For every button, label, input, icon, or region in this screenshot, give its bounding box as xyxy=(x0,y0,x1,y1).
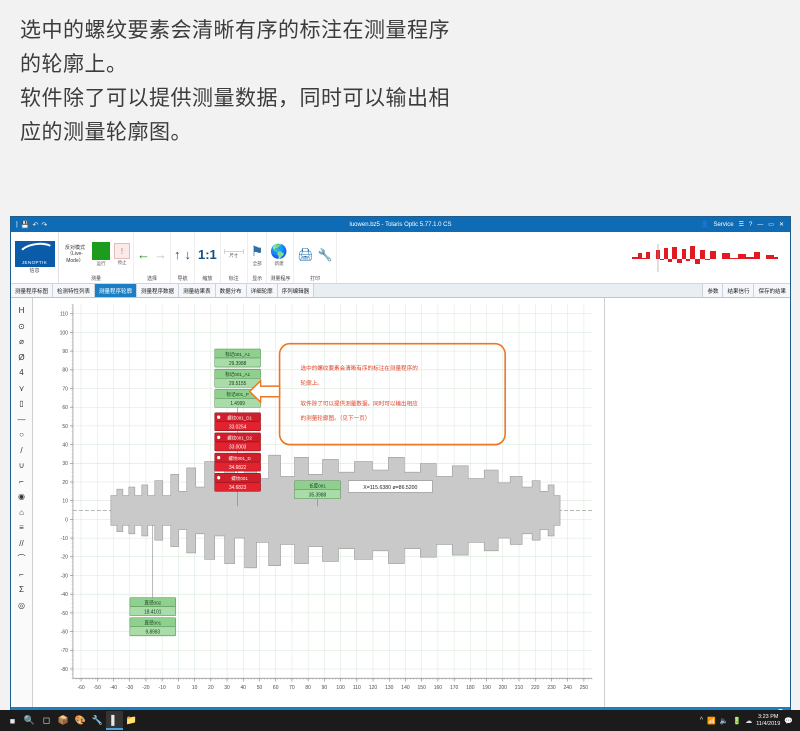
tab-program-chart[interactable]: 测量程序标图 xyxy=(11,284,53,297)
arrow-right-icon[interactable]: → xyxy=(154,248,167,261)
windows-taskbar: ■ 🔍 ◻ 📦 🎨 🔧 ▌ 📁 ^ 📶 🔈 🔋 ☁ 3:23 PM 11/4/2… xyxy=(0,710,800,731)
svg-text:-50: -50 xyxy=(61,611,68,617)
svg-text:1.4999: 1.4999 xyxy=(230,401,245,407)
svg-text:选中的螺纹要素会清晰有序的标注在测量程序的: 选中的螺纹要素会清晰有序的标注在测量程序的 xyxy=(301,364,418,372)
tab-result-bank[interactable]: 结果信行 xyxy=(722,284,753,297)
group-label-select: 选择 xyxy=(137,275,167,283)
ribbon-options-icon[interactable]: ☰ xyxy=(739,221,744,228)
label-red-0[interactable]: 螺纹001_D1 33.0254 xyxy=(215,413,261,431)
battery-icon[interactable]: 🔋 xyxy=(733,717,742,725)
tab-parameters[interactable]: 参数 xyxy=(702,284,722,297)
ribbon-group-navigate: ↑ ↓ 导航 xyxy=(171,232,195,283)
volume-icon[interactable]: 🔈 xyxy=(720,717,729,725)
label-green-0[interactable]: 标记001_A1 29.3988 xyxy=(215,349,261,367)
caption-line-1: 选中的螺纹要素会清晰有序的标注在测量程序 xyxy=(20,14,780,48)
svg-text:螺纹001_D2: 螺纹001_D2 xyxy=(227,435,252,442)
chevron-up-icon[interactable]: ^ xyxy=(700,717,703,724)
svg-text:9.8993: 9.8993 xyxy=(145,629,160,635)
title-bar: | 💾 ↶ ↷ luowen.bz5 - Tolaris Optic 5.77.… xyxy=(11,217,790,232)
new-program-caption: 新建 xyxy=(275,261,284,267)
group-label-print: 打印 xyxy=(297,275,332,283)
stop-caption: 停止 xyxy=(118,260,127,266)
double-slash-tool-icon[interactable]: // xyxy=(14,537,30,550)
svg-text:130: 130 xyxy=(385,685,393,691)
svg-text:100: 100 xyxy=(336,685,344,691)
height-tool-icon[interactable]: H xyxy=(14,304,30,317)
svg-text:29.5155: 29.5155 xyxy=(229,381,247,387)
diameter-tool-icon[interactable]: ⌀ xyxy=(14,335,30,348)
group-label-dimension: 标注 xyxy=(224,275,244,283)
svg-text:-40: -40 xyxy=(110,685,117,691)
dimension-caption: 尺寸 xyxy=(229,253,238,259)
rect-tool-icon[interactable]: ▯ xyxy=(14,397,30,410)
svg-text:100: 100 xyxy=(60,330,68,336)
svg-text:10: 10 xyxy=(62,498,68,504)
svg-text:34.6822: 34.6822 xyxy=(229,465,247,471)
group-label-program: 测量程序 xyxy=(270,275,290,283)
svg-text:轮廓上。: 轮廓上。 xyxy=(301,379,323,387)
action-center-icon[interactable]: 💬 xyxy=(784,717,793,725)
svg-text:33.0254: 33.0254 xyxy=(229,424,247,430)
svg-text:螺纹001: 螺纹001 xyxy=(231,475,248,482)
ribbon-group-dimension: 尺寸 标注 xyxy=(221,232,248,283)
caption-block: 选中的螺纹要素会清晰有序的标注在测量程序 的轮廓上。 软件除了可以提供测量数据，… xyxy=(0,0,800,158)
svg-text:90: 90 xyxy=(322,685,328,691)
svg-text:33.0003: 33.0003 xyxy=(229,445,247,451)
svg-text:70: 70 xyxy=(289,685,295,691)
tab-strip: 测量程序标图 检测特性列表 测量程序轮廓 测量程序数据 测量结果表 数据分布 详… xyxy=(11,284,790,298)
label-red-2[interactable]: 螺纹001_D 34.6822 xyxy=(215,453,261,471)
group-label-zoom: 缩放 xyxy=(198,275,217,283)
task-view-icon[interactable]: ◻ xyxy=(38,711,55,730)
search-icon[interactable]: 🔍 xyxy=(21,711,38,730)
logo-group-label: 信息 xyxy=(29,267,39,275)
svg-text:-70: -70 xyxy=(61,648,68,654)
start-caption: 运行 xyxy=(97,261,106,267)
dot-circle-tool-icon[interactable]: ◉ xyxy=(14,490,30,503)
svg-text:X=115.6380 ø=86.5200: X=115.6380 ø=86.5200 xyxy=(363,485,417,491)
measurement-tool-palette: H ⊙ ⌀ Ø 4 ⋎ ▯ — ○ / ∪ ⌐ ◉ ⌂ ≡ // ⌒ ⌐ Σ ◎ xyxy=(11,298,33,707)
svg-text:0: 0 xyxy=(65,517,68,523)
ribbon-toolbar: JENOPTIK 信息 反对模式 （Live- Mode） 运行 ! 停止 测量 xyxy=(11,232,790,284)
arc-tool-icon[interactable]: ⌒ xyxy=(14,552,30,565)
svg-text:110: 110 xyxy=(353,685,361,691)
circle-tool-icon[interactable]: ⊙ xyxy=(14,320,30,333)
svg-text:-10: -10 xyxy=(61,536,68,542)
stop-measure-button[interactable]: ! 停止 xyxy=(114,243,130,266)
svg-text:10: 10 xyxy=(192,685,198,691)
svg-text:160: 160 xyxy=(434,685,442,691)
caption-line-2: 的轮廓上。 xyxy=(20,48,780,82)
live-mode-button[interactable]: 反对模式 （Live- Mode） xyxy=(62,245,88,265)
dimension-button[interactable]: 尺寸 xyxy=(224,251,244,259)
ribbon-group-select: ← → 选择 xyxy=(134,232,171,283)
corner-tool-icon[interactable]: ⌐ xyxy=(14,568,30,581)
tab-program-data[interactable]: 测量程序数据 xyxy=(137,284,179,297)
close-button[interactable]: ✕ xyxy=(779,221,784,228)
group-label-display: 显示 xyxy=(251,275,264,283)
application-window: | 💾 ↶ ↷ luowen.bz5 - Tolaris Optic 5.77.… xyxy=(10,216,791,721)
work-area: H ⊙ ⌀ Ø 4 ⋎ ▯ — ○ / ∪ ⌐ ◉ ⌂ ≡ // ⌒ ⌐ Σ ◎ xyxy=(11,298,790,707)
parallel-lines-tool-icon[interactable]: ≡ xyxy=(14,521,30,534)
svg-text:40: 40 xyxy=(62,442,68,448)
svg-text:240: 240 xyxy=(564,685,572,691)
flag-icon: ⚑ xyxy=(251,243,264,260)
svg-text:40: 40 xyxy=(240,685,246,691)
print-icon[interactable]: 🖨 xyxy=(297,247,314,263)
svg-text:的测量轮廓图。（见下一页）: 的测量轮廓图。（见下一页） xyxy=(301,414,371,422)
tab-feature-list[interactable]: 检测特性列表 xyxy=(53,284,95,297)
group-label-measure: 测量 xyxy=(62,275,130,283)
live-mode-label: 反对模式 （Live- Mode） xyxy=(62,245,88,265)
svg-text:120: 120 xyxy=(369,685,377,691)
tolaris-icon[interactable]: ▌ xyxy=(106,711,123,730)
label-red-3[interactable]: 螺纹001 34.6823 xyxy=(215,473,261,491)
ribbon-group-zoom: 1:1 缩放 xyxy=(195,232,221,283)
svg-text:35.3988: 35.3988 xyxy=(309,492,327,498)
slash-circle-tool-icon[interactable]: Ø xyxy=(14,351,30,364)
caption-line-4: 应的测量轮廓图。 xyxy=(20,116,780,150)
svg-text:150: 150 xyxy=(418,685,426,691)
line-tool-icon[interactable]: — xyxy=(14,413,30,426)
svg-text:直径001: 直径001 xyxy=(144,619,161,626)
wrench-icon[interactable]: 🔧 xyxy=(318,248,333,262)
svg-text:30: 30 xyxy=(62,461,68,467)
app-store-icon[interactable]: 📦 xyxy=(55,711,72,730)
svg-text:70: 70 xyxy=(62,386,68,392)
ribbon-group-print: 🖨 🔧 打印 xyxy=(294,232,336,283)
ribbon-group-program: 🌎 新建 测量程序 xyxy=(267,232,294,283)
caption-line-3: 软件除了可以提供测量数据，同时可以输出相 xyxy=(20,82,780,116)
svg-text:60: 60 xyxy=(62,405,68,411)
dimension-icon xyxy=(224,251,244,252)
tab-detail-profile[interactable]: 详细轮廓 xyxy=(247,284,278,297)
svg-text:34.6823: 34.6823 xyxy=(229,485,247,491)
svg-text:190: 190 xyxy=(482,685,490,691)
label-green-center[interactable]: 长度001 35.3988 xyxy=(295,481,341,499)
tab-data-distribution[interactable]: 数据分布 xyxy=(216,284,247,297)
svg-text:螺纹001_D: 螺纹001_D xyxy=(229,455,252,462)
svg-text:标记001_A1: 标记001_A1 xyxy=(225,351,250,358)
svg-text:软件除了可以提供测量数据，同时可以输出相应: 软件除了可以提供测量数据，同时可以输出相应 xyxy=(301,399,418,407)
label-red-1[interactable]: 螺纹001_D2 33.0003 xyxy=(215,433,261,451)
chamfer-tool-icon[interactable]: ⌂ xyxy=(14,506,30,519)
paint-icon[interactable]: 🎨 xyxy=(72,711,89,730)
svg-text:230: 230 xyxy=(547,685,555,691)
svg-text:-30: -30 xyxy=(126,685,133,691)
tab-strip-spacer xyxy=(314,284,702,297)
svg-text:80: 80 xyxy=(62,368,68,374)
network-icon[interactable]: 📶 xyxy=(707,717,716,725)
svg-text:18.4101: 18.4101 xyxy=(144,609,162,615)
svg-text:标记001_P: 标记001_P xyxy=(226,391,248,398)
slope-tool-icon[interactable]: / xyxy=(14,444,30,457)
onedrive-icon[interactable]: ☁ xyxy=(745,717,752,725)
angle-4-tool-icon[interactable]: 4 xyxy=(14,366,30,379)
svg-text:-30: -30 xyxy=(61,573,68,579)
svg-text:-60: -60 xyxy=(77,685,84,691)
green-label-group-upper[interactable]: 标记001_A1 29.3988 标记001_A1 29.5155 标记001_… xyxy=(215,349,261,407)
ribbon-group-display: ⚑ 全部 显示 xyxy=(248,232,268,283)
scale-1-1-button[interactable]: 1:1 xyxy=(198,247,217,262)
arrow-down-icon[interactable]: ↓ xyxy=(185,248,192,261)
user-name: Service xyxy=(714,222,734,228)
svg-text:20: 20 xyxy=(208,685,214,691)
globe-icon: 🌎 xyxy=(270,243,287,260)
label-green-bottom-0[interactable]: 直径002 18.4101 xyxy=(130,598,176,616)
svg-text:30: 30 xyxy=(224,685,230,691)
svg-text:80: 80 xyxy=(305,685,311,691)
svg-text:-10: -10 xyxy=(159,685,166,691)
svg-text:200: 200 xyxy=(499,685,507,691)
window-title: luowen.bz5 - Tolaris Optic 5.77.1.0 CS xyxy=(11,222,790,228)
right-side-panel xyxy=(604,298,790,707)
svg-text:标记001_A1: 标记001_A1 xyxy=(225,371,250,378)
display-all-caption: 全部 xyxy=(253,261,262,267)
maximize-button[interactable]: ▭ xyxy=(768,221,774,228)
svg-text:20: 20 xyxy=(62,480,68,486)
target-tool-icon[interactable]: ◎ xyxy=(14,599,30,612)
clock-date: 11/4/2019 xyxy=(756,721,780,727)
svg-text:29.3988: 29.3988 xyxy=(229,361,247,367)
profile-preview-icon xyxy=(630,244,780,272)
svg-text:170: 170 xyxy=(450,685,458,691)
groove-tool-icon[interactable]: ∪ xyxy=(14,459,30,472)
svg-text:直径002: 直径002 xyxy=(144,599,161,606)
tab-result-table[interactable]: 测量结果表 xyxy=(179,284,216,297)
logo-text: JENOPTIK xyxy=(22,260,47,265)
step-tool-icon[interactable]: ⌐ xyxy=(14,475,30,488)
arrow-up-icon[interactable]: ↑ xyxy=(174,248,181,261)
svg-text:210: 210 xyxy=(515,685,523,691)
clock-time: 3:23 PM xyxy=(758,714,778,720)
svg-text:-80: -80 xyxy=(61,667,68,673)
tool-icon[interactable]: 🔧 xyxy=(89,711,106,730)
svg-text:长度001: 长度001 xyxy=(309,482,326,489)
coordinate-readout: X=115.6380 ø=86.5200 xyxy=(348,481,432,493)
svg-text:-60: -60 xyxy=(61,629,68,635)
group-label-navigate: 导航 xyxy=(174,275,191,283)
arrow-left-icon[interactable]: ← xyxy=(137,248,150,261)
svg-text:180: 180 xyxy=(466,685,474,691)
sum-tool-icon[interactable]: Σ xyxy=(14,583,30,596)
svg-text:220: 220 xyxy=(531,685,539,691)
svg-text:0: 0 xyxy=(177,685,180,691)
y-branch-tool-icon[interactable]: ⋎ xyxy=(14,382,30,395)
help-button[interactable]: ? xyxy=(749,222,752,228)
tab-sequence-editor[interactable]: 序列编辑器 xyxy=(278,284,315,297)
svg-text:-20: -20 xyxy=(142,685,149,691)
label-green-1[interactable]: 标记001_A1 29.5155 xyxy=(215,369,261,387)
profile-chart[interactable]: 1101009080706050403020100-10-20-30-40-50… xyxy=(33,298,604,707)
start-measure-button[interactable]: 运行 xyxy=(92,242,110,267)
ribbon-group-measure: 反对模式 （Live- Mode） 运行 ! 停止 测量 xyxy=(59,232,134,283)
svg-text:140: 140 xyxy=(401,685,409,691)
taskbar-clock[interactable]: 3:23 PM 11/4/2019 xyxy=(756,714,780,728)
svg-text:50: 50 xyxy=(257,685,263,691)
explorer-icon[interactable]: 📁 xyxy=(123,711,140,730)
start-green-icon xyxy=(92,242,110,260)
svg-text:-20: -20 xyxy=(61,555,68,561)
jenoptik-logo-icon: JENOPTIK xyxy=(15,241,55,267)
hole-tool-icon[interactable]: ○ xyxy=(14,428,30,441)
tab-saved-results[interactable]: 保存的结果 xyxy=(753,284,790,297)
user-icon[interactable]: 👤 xyxy=(701,221,708,228)
tab-program-profile[interactable]: 测量程序轮廓 xyxy=(95,284,137,297)
profile-chart-svg: 1101009080706050403020100-10-20-30-40-50… xyxy=(33,298,604,707)
stop-pink-icon: ! xyxy=(114,243,130,259)
svg-text:60: 60 xyxy=(273,685,279,691)
app-logo: JENOPTIK 信息 xyxy=(11,232,59,283)
svg-text:50: 50 xyxy=(62,424,68,430)
windows-start-icon[interactable]: ■ xyxy=(4,711,21,730)
display-all-button[interactable]: ⚑ 全部 xyxy=(251,243,264,267)
svg-text:-40: -40 xyxy=(61,592,68,598)
minimize-button[interactable]: — xyxy=(757,222,763,228)
new-program-button[interactable]: 🌎 新建 xyxy=(270,243,287,267)
label-green-bottom-1[interactable]: 直径001 9.8993 xyxy=(130,618,176,636)
svg-text:110: 110 xyxy=(60,312,68,318)
svg-text:250: 250 xyxy=(580,685,588,691)
svg-text:90: 90 xyxy=(62,349,68,355)
svg-text:-50: -50 xyxy=(94,685,101,691)
svg-text:螺纹001_D1: 螺纹001_D1 xyxy=(227,414,252,421)
